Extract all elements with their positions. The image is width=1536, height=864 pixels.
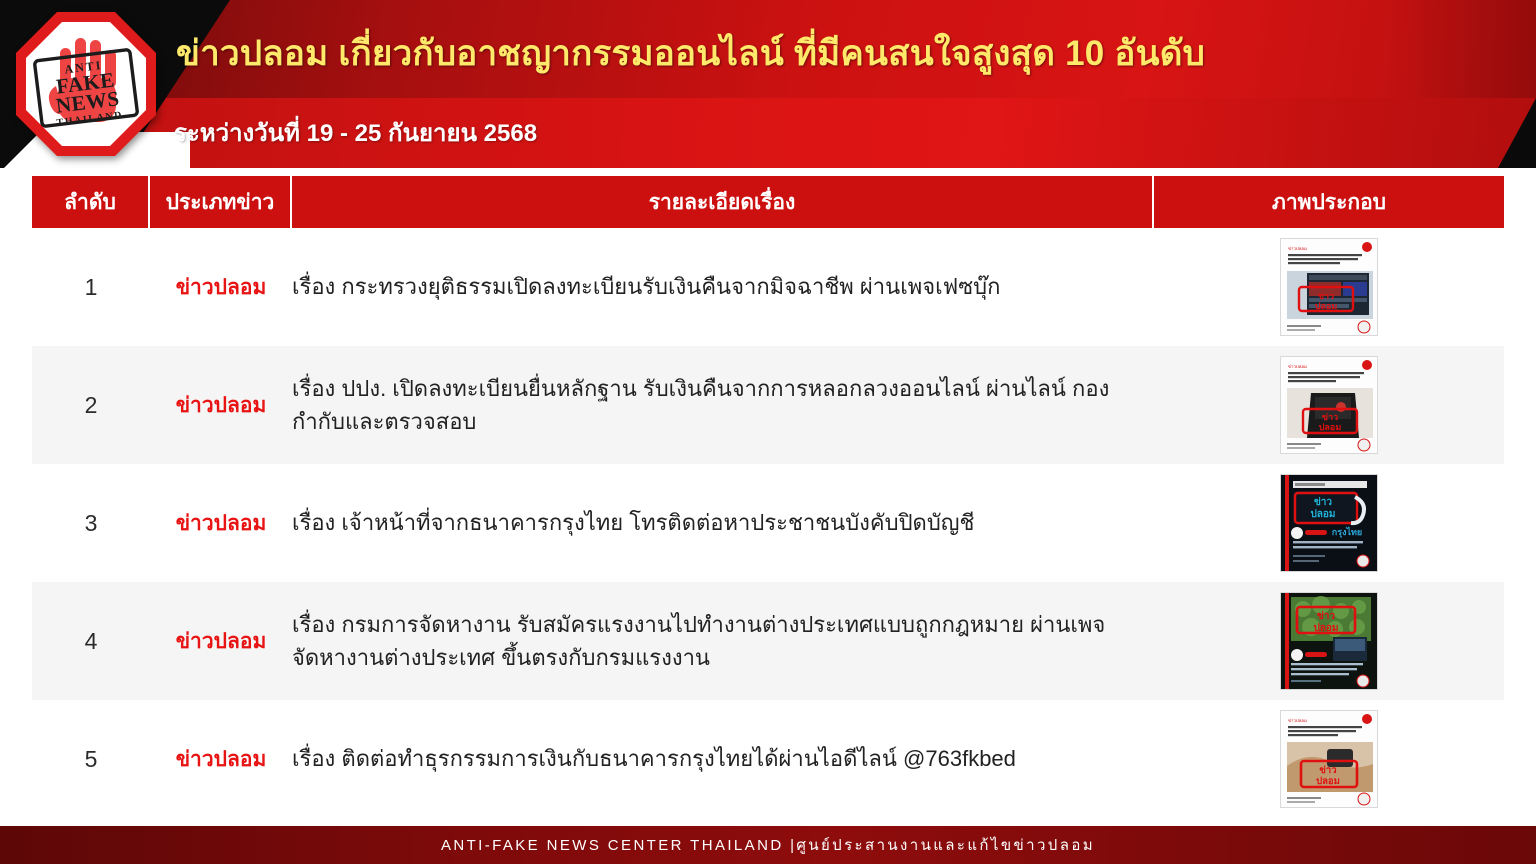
row-type-badge: ข่าวปลอม <box>150 464 292 582</box>
row-detail: เรื่อง ติดต่อทำธุรกรรมการเงินกับธนาคารกร… <box>292 700 1154 818</box>
svg-text:ข่าวปลอม: ข่าวปลอม <box>1288 718 1307 723</box>
row-type-badge: ข่าวปลอม <box>150 700 292 818</box>
footer-label: ANTI-FAKE NEWS CENTER THAILAND |ศูนย์ประ… <box>441 833 1095 857</box>
row-image-cell: ข่าวปลอม <box>1154 228 1504 346</box>
anti-fake-news-logo-icon: ANTI FAKE NEWS THAILAND <box>12 8 160 160</box>
row-detail: เรื่อง ปปง. เปิดลงทะเบียนยื่นหลักฐาน รับ… <box>292 346 1154 464</box>
footer-bar: ANTI-FAKE NEWS CENTER THAILAND |ศูนย์ประ… <box>0 826 1536 864</box>
table-row: 2 ข่าวปลอม เรื่อง ปปง. เปิดลงทะเบียนยื่น… <box>32 346 1504 464</box>
row-image-cell: ข่าวปลอม ข่าว <box>1154 700 1504 818</box>
svg-text:กรุงไทย: กรุงไทย <box>1332 526 1362 538</box>
svg-text:ข่าว: ข่าว <box>1319 765 1336 776</box>
table-row: 4 ข่าวปลอม เรื่อง กรมการจัดหางาน รับสมัค… <box>32 582 1504 700</box>
slide-root: ข่าวปลอม เกี่ยวกับอาชญากรรมออนไลน์ ที่มี… <box>0 0 1536 864</box>
row-image-cell: ข่าว ปลอม <box>1154 582 1504 700</box>
thumbnail-fake-news-card-1[interactable]: ข่าวปลอม <box>1280 238 1378 336</box>
row-rank: 4 <box>32 582 150 700</box>
row-detail: เรื่อง กระทรวงยุติธรรมเปิดลงทะเบียนรับเง… <box>292 228 1154 346</box>
thumbnail-fake-news-card-4[interactable]: ข่าว ปลอม <box>1280 592 1378 690</box>
table-row: 3 ข่าวปลอม เรื่อง เจ้าหน้าที่จากธนาคารกร… <box>32 464 1504 582</box>
header-banner: ข่าวปลอม เกี่ยวกับอาชญากรรมออนไลน์ ที่มี… <box>0 0 1536 168</box>
row-image-cell: ข่าวปลอม ข่า <box>1154 346 1504 464</box>
news-table: ลำดับ ประเภทข่าว รายละเอียดเรื่อง ภาพประ… <box>32 176 1504 818</box>
column-header-detail: รายละเอียดเรื่อง <box>292 176 1154 228</box>
svg-text:ข่าว: ข่าว <box>1322 412 1338 422</box>
date-range-label: ระหว่างวันที่ 19 - 25 กันยายน 2568 <box>174 113 537 152</box>
row-type-badge: ข่าวปลอม <box>150 228 292 346</box>
svg-text:ปลอม: ปลอม <box>1319 422 1342 432</box>
table-row: 1 ข่าวปลอม เรื่อง กระทรวงยุติธรรมเปิดลงท… <box>32 228 1504 346</box>
thumbnail-fake-news-card-2[interactable]: ข่าวปลอม ข่า <box>1280 356 1378 454</box>
news-table-container: ลำดับ ประเภทข่าว รายละเอียดเรื่อง ภาพประ… <box>32 176 1504 818</box>
svg-text:ข่าวปลอม: ข่าวปลอม <box>1288 246 1307 251</box>
row-rank: 2 <box>32 346 150 464</box>
column-header-image: ภาพประกอบ <box>1154 176 1504 228</box>
svg-text:ข่าว: ข่าว <box>1317 610 1335 622</box>
svg-text:ข่าว: ข่าว <box>1318 291 1334 301</box>
svg-text:ข่าวปลอม: ข่าวปลอม <box>1288 364 1307 369</box>
row-rank: 1 <box>32 228 150 346</box>
svg-text:ปลอม: ปลอม <box>1315 301 1338 311</box>
row-type-badge: ข่าวปลอม <box>150 346 292 464</box>
row-type-badge: ข่าวปลอม <box>150 582 292 700</box>
page-title: ข่าวปลอม เกี่ยวกับอาชญากรรมออนไลน์ ที่มี… <box>176 26 1506 81</box>
row-rank: 5 <box>32 700 150 818</box>
table-row: 5 ข่าวปลอม เรื่อง ติดต่อทำธุรกรรมการเงิน… <box>32 700 1504 818</box>
column-header-type: ประเภทข่าว <box>150 176 292 228</box>
column-header-rank: ลำดับ <box>32 176 150 228</box>
row-rank: 3 <box>32 464 150 582</box>
row-detail: เรื่อง กรมการจัดหางาน รับสมัครแรงงานไปทำ… <box>292 582 1154 700</box>
table-header-row: ลำดับ ประเภทข่าว รายละเอียดเรื่อง ภาพประ… <box>32 176 1504 228</box>
svg-text:ข่าว: ข่าว <box>1314 496 1332 508</box>
row-detail: เรื่อง เจ้าหน้าที่จากธนาคารกรุงไทย โทรติ… <box>292 464 1154 582</box>
row-image-cell: ข่าว ปลอม กรุงไทย <box>1154 464 1504 582</box>
thumbnail-fake-news-card-5[interactable]: ข่าวปลอม ข่าว <box>1280 710 1378 808</box>
thumbnail-fake-news-card-3[interactable]: ข่าว ปลอม กรุงไทย <box>1280 474 1378 572</box>
svg-text:ปลอม: ปลอม <box>1313 622 1338 634</box>
svg-text:ปลอม: ปลอม <box>1310 508 1335 520</box>
svg-text:ปลอม: ปลอม <box>1316 775 1340 787</box>
